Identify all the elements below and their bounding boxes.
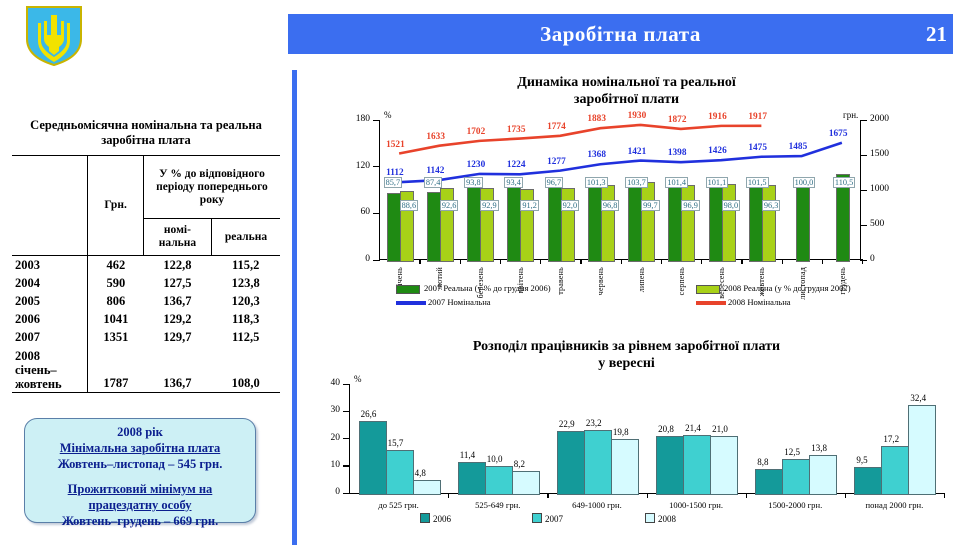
chart2-bar-2007 (485, 466, 513, 495)
chart2-bar-2006 (359, 421, 387, 495)
chart2-ytick (343, 384, 350, 385)
chart1-legend-label: 2008 Реальна (у % до грудня 2007) (724, 283, 851, 293)
chart2-legend-swatch (532, 513, 542, 523)
salary-table: Грн. У % до відповідного періоду поперед… (12, 155, 280, 393)
chart2-bar-2008 (809, 455, 837, 495)
chart1-bar-label-2008: 96,9 (681, 200, 700, 211)
chart1-xtick (862, 259, 863, 264)
chart1-bar-label-2007: 101,4 (665, 177, 688, 188)
left-panel: Середньомісячна номінальна та реальна за… (8, 118, 284, 393)
chart2-bar-label: 22,9 (559, 419, 575, 429)
chart1-line-series (379, 120, 862, 260)
chart1-line-label-2008: 1883 (587, 114, 606, 124)
chart1-legend-item: 2008 Номінальна (696, 297, 791, 307)
row-grn: 462 (88, 256, 144, 275)
chart2-category-label: 525-649 грн. (448, 500, 548, 510)
chart2-ytick (343, 465, 350, 466)
chart2-bar-label: 13,8 (811, 443, 827, 453)
chart1-line-label-2008: 1702 (467, 127, 486, 137)
chart1-ytick-label: 120 (344, 161, 370, 171)
chart1-legend-item: 2008 Реальна (у % до грудня 2007) (696, 283, 851, 294)
chart2-bar-label: 10,0 (487, 454, 503, 464)
chart1-bar-label-2007: 93,8 (464, 177, 483, 188)
table-title: Середньомісячна номінальна та реальна за… (8, 118, 284, 148)
row-real: 120,3 (211, 292, 280, 310)
chart1-month-label: серпень (677, 267, 686, 295)
chart1-ytick-right-label: 0 (870, 254, 875, 264)
info-year: 2008 рік (25, 424, 255, 440)
chart1-ytick-right-label: 500 (870, 219, 884, 229)
chart1-ytick-label: 0 (344, 254, 370, 264)
chart1-line-label-2008: 1872 (668, 115, 687, 125)
chart1-bar-label-2007: 85,7 (384, 177, 403, 188)
chart2-legend-swatch (420, 513, 430, 523)
chart2-ytick-label: 30 (316, 405, 340, 415)
chart2-bar-label: 21,0 (712, 424, 728, 434)
chart1-bar-label-2008: 98,0 (722, 200, 741, 211)
chart2-legend-item: 2007 (532, 513, 563, 524)
chart1-bar-label-2007: 96,7 (545, 177, 564, 188)
chart1-bar-label-2007: 101,5 (746, 177, 769, 188)
chart1-legend-label: 2008 Номінальна (728, 297, 791, 307)
chart2-bar-label: 19,8 (613, 427, 629, 437)
chart1-legend-item: 2007 Реальна (у % до грудня 2006) (396, 283, 551, 294)
chart1-bar-label-2008: 96,3 (762, 200, 781, 211)
chart1-legend-label: 2007 Реальна (у % до грудня 2006) (424, 283, 551, 293)
page-number: 21 (926, 14, 947, 54)
chart2-xtick (746, 493, 747, 498)
chart2-ytick (343, 438, 350, 439)
row-year: 2004 (12, 274, 88, 292)
row-year: 2007 (12, 328, 88, 346)
chart2-legend-swatch (645, 513, 655, 523)
chart2-ytick-label: 20 (316, 433, 340, 443)
chart1-line-label-2007: 1485 (789, 142, 808, 152)
chart1-ytick-right-label: 1500 (870, 149, 889, 159)
ukraine-coat-of-arms-emblem (25, 5, 83, 67)
chart2-category-label: понад 2000 грн. (844, 500, 944, 510)
chart1-legend-swatch (696, 301, 726, 304)
row-real: 118,3 (211, 310, 280, 328)
chart2-legend-label: 2007 (545, 514, 563, 524)
chart1-legend-swatch (396, 285, 420, 294)
chart2-bar-label: 23,2 (586, 418, 602, 428)
row-grn: 1787 (88, 346, 144, 393)
chart1-bar-label-2008: 92,9 (480, 200, 499, 211)
info-min-wage-value: Жовтень–листопад – 545 грн. (25, 456, 255, 472)
chart2-bar-label: 21,4 (685, 423, 701, 433)
chart2-bar-2008 (611, 439, 639, 495)
chart1-bar-label-2008: 91,2 (520, 200, 539, 211)
chart2-legend-item: 2006 (420, 513, 451, 524)
header-bar: Заробітна плата 21 (288, 14, 953, 54)
chart1-line-label-2008: 1930 (628, 111, 647, 121)
chart2-bar-2007 (584, 430, 612, 495)
chart1-legend-item: 2007 Номінальна (396, 297, 491, 307)
chart2-xtick (944, 493, 945, 498)
chart2-bar-2007 (881, 446, 909, 495)
chart1-bar-label-2007: 103,7 (625, 177, 648, 188)
chart1-ytick-label: 60 (344, 207, 370, 217)
chart1-line-label-2007: 1421 (628, 147, 647, 157)
chart2-ylabel: % (354, 374, 362, 384)
table-subheader-row: номі-нальна реальна (12, 219, 280, 256)
chart2-ytick-label: 40 (316, 378, 340, 388)
chart1-ytick-right-label: 1000 (870, 184, 889, 194)
chart2-legend-item: 2008 (645, 513, 676, 524)
chart1-line-label-2008: 1521 (386, 140, 405, 150)
info-subsistence-value: Жовтень–грудень – 669 грн. (25, 513, 255, 529)
column-header-real: реальна (211, 219, 280, 256)
chart1-legend-swatch (696, 285, 720, 294)
chart2-category-label: до 525 грн. (349, 500, 449, 510)
chart1-line-label-2007: 1142 (426, 166, 444, 176)
chart2-bar-label: 8,2 (514, 459, 525, 469)
info-box: 2008 рік Мінімальна заробітна плата Жовт… (24, 418, 256, 523)
chart2-bar-label: 26,6 (361, 409, 377, 419)
row-nominal: 136,7 (143, 292, 211, 310)
chart1-line-label-2007: 1675 (829, 129, 848, 139)
chart1-month-label: липень (637, 267, 646, 292)
chart1-line-label-2008: 1735 (507, 125, 526, 135)
chart2-legend-label: 2006 (433, 514, 451, 524)
row-year: 2003 (12, 256, 88, 275)
chart2-bar-2006 (656, 436, 684, 495)
table-row: 2006 1041 129,2 118,3 (12, 310, 280, 328)
chart2-ytick-label: 10 (316, 460, 340, 470)
chart2-bar-label: 9,5 (856, 455, 867, 465)
chart2-ytick (343, 411, 350, 412)
chart1-legend-swatch (396, 301, 426, 304)
chart1-line-label-2008: 1633 (426, 132, 445, 142)
chart2-category-label: 649-1000 грн. (547, 500, 647, 510)
row-nominal: 129,2 (143, 310, 211, 328)
chart2-legend-label: 2008 (658, 514, 676, 524)
chart1-bar-label-2007: 93,4 (504, 177, 523, 188)
chart1-line-2008-nominal (399, 125, 761, 154)
chart2-bar-label: 20,8 (658, 424, 674, 434)
chart2-bar-2006 (854, 467, 882, 495)
chart1-line-label-2007: 1398 (668, 148, 687, 158)
row-nominal: 129,7 (143, 328, 211, 346)
chart1-legend-label: 2007 Номінальна (428, 297, 491, 307)
chart1-ylabel: % (384, 110, 392, 120)
chart2-bar-label: 32,4 (910, 393, 926, 403)
row-grn: 1041 (88, 310, 144, 328)
row-grn: 1351 (88, 328, 144, 346)
chart1-month-label: червень (596, 267, 605, 295)
chart2-bar-2007 (782, 459, 810, 495)
chart1-line-label-2007: 1277 (547, 157, 566, 167)
chart1-line-label-2007: 1426 (708, 146, 727, 156)
chart2-bar-label: 4,8 (415, 468, 426, 478)
chart1-line-label-2007: 1368 (587, 150, 606, 160)
row-grn: 590 (88, 274, 144, 292)
row-nominal: 136,7 (143, 346, 211, 393)
chart1-line-label-2008: 1774 (547, 122, 566, 132)
table-row: 2007 1351 129,7 112,5 (12, 328, 280, 346)
chart1-bar-label-2007: 101,1 (706, 177, 729, 188)
chart2-ytick-label: 0 (316, 487, 340, 497)
chart2-bar-label: 12,5 (784, 447, 800, 457)
page-title: Заробітна плата (288, 14, 953, 54)
chart-dynamics-title: Динаміка номінальної та реальноїзаробітн… (300, 74, 953, 108)
row-year: 2005 (12, 292, 88, 310)
chart1-line-label-2007: 1224 (507, 160, 526, 170)
row-real: 115,2 (211, 256, 280, 275)
info-min-wage-label: Мінімальна заробітна плата (25, 440, 255, 456)
chart1-bar-label-2008: 96,8 (601, 200, 620, 211)
column-header-currency: Грн. (88, 156, 144, 256)
chart-distribution-title: Розподіл працівників за рівнем заробітно… (300, 338, 953, 372)
chart2-xtick (448, 493, 449, 498)
chart-distribution: Розподіл працівників за рівнем заробітно… (300, 338, 953, 549)
info-subsistence-label: Прожитковий мінімум на (25, 481, 255, 497)
vertical-divider (292, 70, 297, 545)
row-grn: 806 (88, 292, 144, 310)
info-subsistence-label2: працездатну особу (25, 497, 255, 513)
chart1-ylabel-right: грн. (843, 110, 858, 120)
row-real: 112,5 (211, 328, 280, 346)
chart2-ytick (343, 493, 350, 494)
chart2-xtick (647, 493, 648, 498)
chart1-line-label-2008: 1917 (748, 112, 767, 122)
chart2-bar-label: 15,7 (388, 438, 404, 448)
row-year: 2008січень–жовтень (12, 346, 88, 393)
chart1-bar-label-2008: 99,7 (641, 200, 660, 211)
chart1-line-label-2007: 1112 (386, 168, 404, 178)
column-header-percent-group: У % до відповідного періоду попереднього… (143, 156, 280, 219)
row-real: 123,8 (211, 274, 280, 292)
chart2-bar-2008 (710, 436, 738, 495)
chart1-bar-label-2008: 88,6 (400, 200, 419, 211)
chart1-line-label-2007: 1475 (748, 143, 767, 153)
table-header-row: Грн. У % до відповідного періоду поперед… (12, 156, 280, 219)
chart2-bar-label: 8,8 (757, 457, 768, 467)
row-year: 2006 (12, 310, 88, 328)
chart2-bar-2007 (386, 450, 414, 495)
row-nominal: 122,8 (143, 256, 211, 275)
chart1-line-label-2007: 1230 (467, 160, 486, 170)
chart1-line-label-2008: 1916 (708, 112, 727, 122)
chart1-bar-label-2007: 110,5 (833, 177, 855, 188)
table-row: 2008січень–жовтень 1787 136,7 108,0 (12, 346, 280, 393)
chart1-bar-label-2007: 87,4 (424, 177, 443, 188)
table-row: 2003 462 122,8 115,2 (12, 256, 280, 275)
row-real: 108,0 (211, 346, 280, 393)
chart1-bar-label-2007: 101,3 (585, 177, 608, 188)
column-header-nominal: номі-нальна (143, 219, 211, 256)
table-row: 2005 806 136,7 120,3 (12, 292, 280, 310)
chart2-category-label: 1500-2000 грн. (745, 500, 845, 510)
chart2-xtick (547, 493, 548, 498)
row-nominal: 127,5 (143, 274, 211, 292)
chart2-bar-label: 17,2 (883, 434, 899, 444)
chart1-bar-label-2008: 92,0 (561, 200, 580, 211)
chart2-bar-2006 (458, 462, 486, 495)
table-row: 2004 590 127,5 123,8 (12, 274, 280, 292)
chart2-bar-2008 (413, 480, 441, 495)
chart2-bar-2008 (512, 471, 540, 495)
chart2-bar-2006 (557, 431, 585, 495)
chart2-category-label: 1000-1500 грн. (646, 500, 746, 510)
chart1-ytick-right-label: 2000 (870, 114, 889, 124)
chart-dynamics: Динаміка номінальної та реальноїзаробітн… (300, 74, 953, 324)
chart2-bar-2006 (755, 469, 783, 495)
chart1-month-label: травень (556, 267, 565, 295)
chart1-ytick-label: 180 (344, 114, 370, 124)
chart2-xtick (845, 493, 846, 498)
chart2-bar-label: 11,4 (460, 450, 475, 460)
chart1-bar-label-2007: 100,0 (793, 177, 816, 188)
chart2-bar-2008 (908, 405, 936, 495)
chart1-bar-label-2008: 92,6 (440, 200, 459, 211)
chart2-bar-2007 (683, 435, 711, 495)
